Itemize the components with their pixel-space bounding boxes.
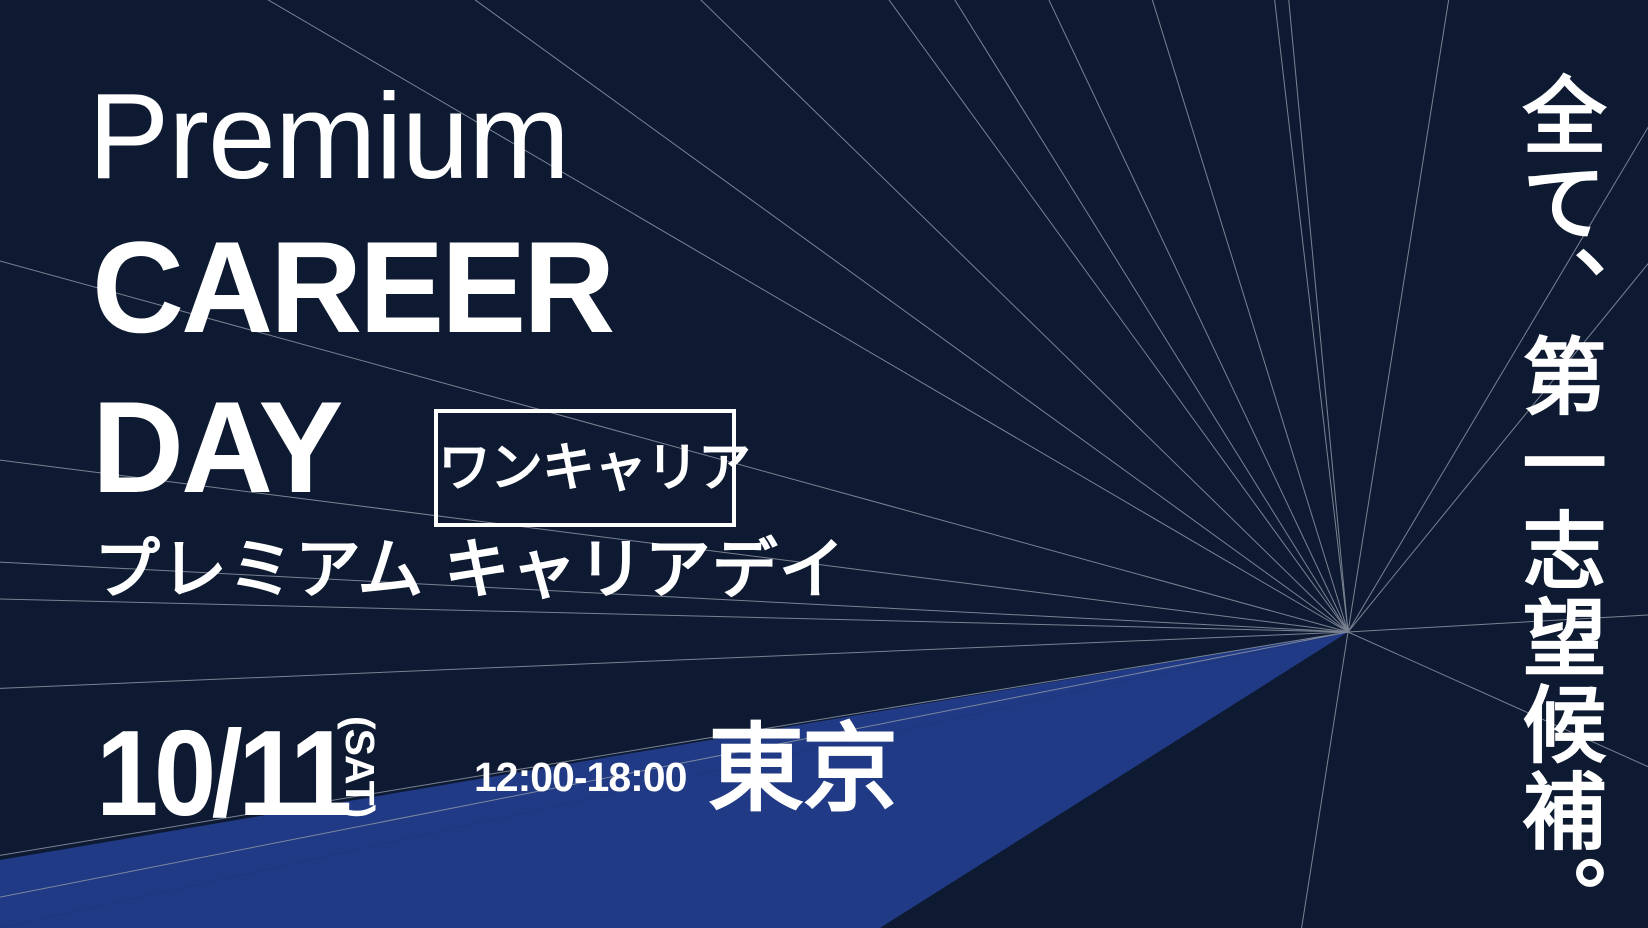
- event-date: 10/11: [96, 712, 348, 834]
- promo-banner: Premium CAREER DAY ワンキャリア プレミアム キャリアデイ 1…: [0, 0, 1648, 928]
- event-time-range: 12:00-18:00: [474, 757, 686, 798]
- event-weekday: (SAT): [339, 716, 380, 817]
- vertical-tagline: 全て、第一志望候補。: [1513, 72, 1602, 872]
- hero-subtitle-japanese: プレミアム キャリアデイ: [94, 536, 846, 602]
- event-venue: 東京: [708, 722, 896, 818]
- hero-kicker: Premium: [88, 75, 569, 197]
- brand-badge-label: ワンキャリア: [438, 442, 732, 495]
- event-info-row: 10/11 (SAT) 12:00-18:00 東京: [0, 700, 1000, 860]
- hero-headline-career: CAREER: [92, 222, 612, 352]
- brand-badge-box: ワンキャリア: [434, 409, 736, 527]
- hero-headline-day: DAY: [92, 382, 340, 512]
